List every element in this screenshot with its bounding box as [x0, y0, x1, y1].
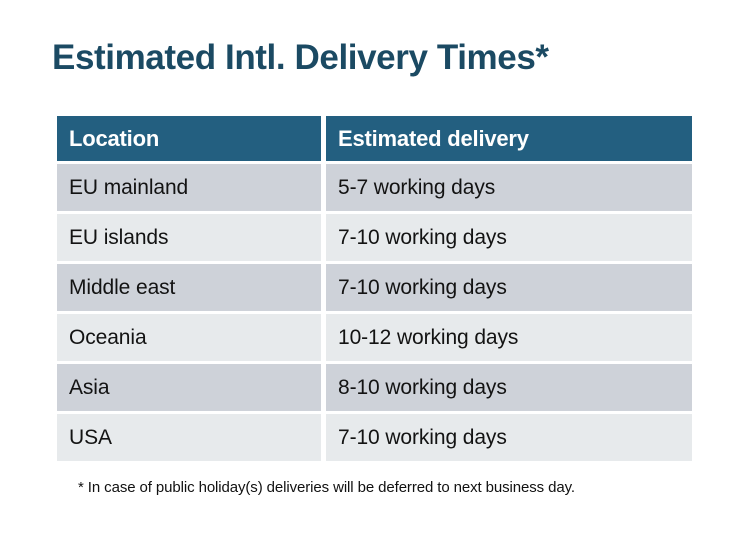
table-header: Location Estimated delivery — [57, 116, 692, 161]
table-header-row: Location Estimated delivery — [57, 116, 692, 161]
cell-estimated-delivery: 7-10 working days — [326, 414, 692, 461]
cell-location: EU islands — [57, 214, 321, 261]
cell-location: USA — [57, 414, 321, 461]
cell-estimated-delivery: 5-7 working days — [326, 164, 692, 211]
footnote: * In case of public holiday(s) deliverie… — [78, 478, 575, 498]
column-header-location: Location — [57, 116, 321, 161]
cell-estimated-delivery: 10-12 working days — [326, 314, 692, 361]
cell-estimated-delivery: 7-10 working days — [326, 264, 692, 311]
table-row: Oceania 10-12 working days — [57, 314, 692, 361]
table-row: Middle east 7-10 working days — [57, 264, 692, 311]
table-row: EU islands 7-10 working days — [57, 214, 692, 261]
cell-estimated-delivery: 8-10 working days — [326, 364, 692, 411]
table-row: Asia 8-10 working days — [57, 364, 692, 411]
cell-location: Middle east — [57, 264, 321, 311]
cell-estimated-delivery: 7-10 working days — [326, 214, 692, 261]
table-row: USA 7-10 working days — [57, 414, 692, 461]
delivery-times-page: Estimated Intl. Delivery Times* Location… — [0, 0, 745, 536]
page-title: Estimated Intl. Delivery Times* — [52, 36, 549, 80]
column-header-estimated-delivery: Estimated delivery — [326, 116, 692, 161]
cell-location: EU mainland — [57, 164, 321, 211]
cell-location: Oceania — [57, 314, 321, 361]
delivery-times-table: Location Estimated delivery EU mainland … — [52, 113, 697, 464]
table-row: EU mainland 5-7 working days — [57, 164, 692, 211]
cell-location: Asia — [57, 364, 321, 411]
table-body: EU mainland 5-7 working days EU islands … — [57, 164, 692, 461]
